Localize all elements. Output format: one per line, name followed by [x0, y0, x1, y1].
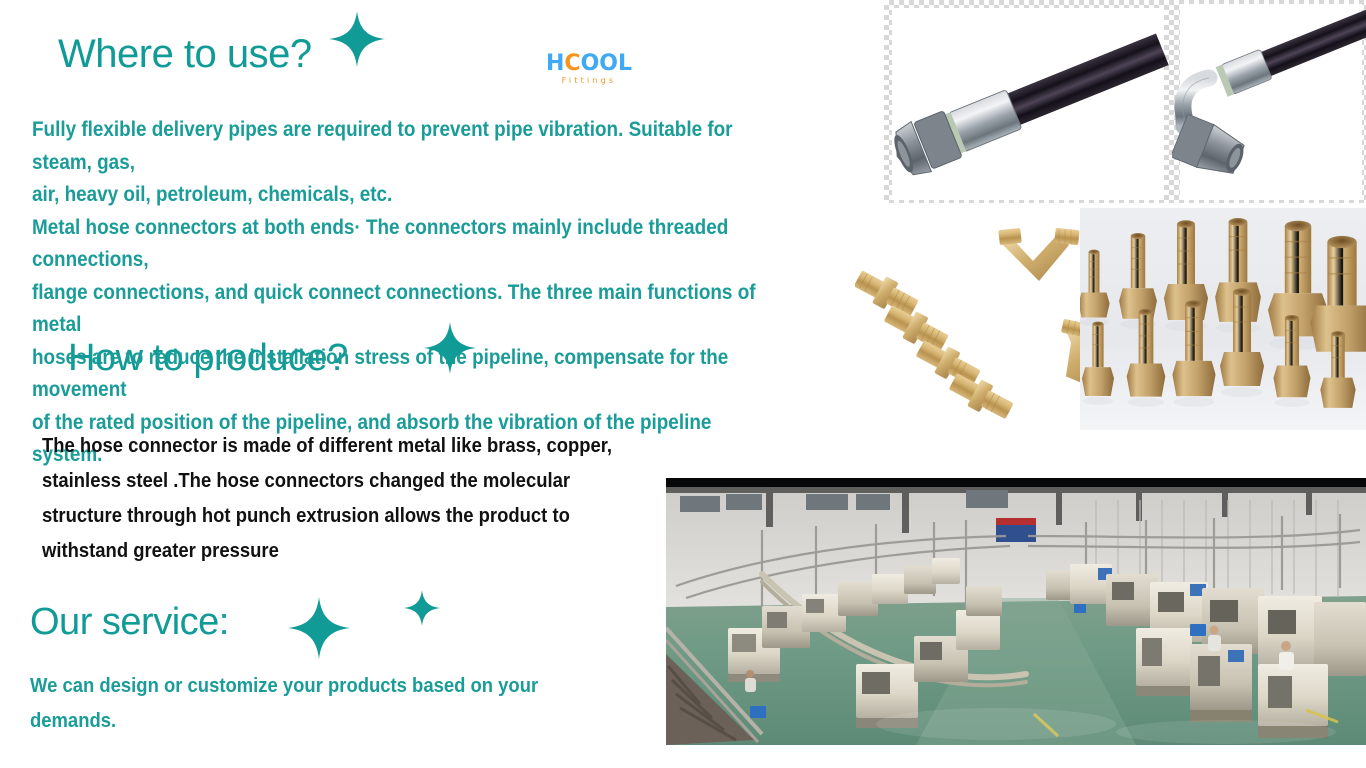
paragraph-line: hoses are to reduce the installation str…: [32, 342, 779, 407]
paragraph-line: We can design or customize your products…: [30, 668, 570, 703]
brand-logo: HCOOL Fittings: [531, 53, 647, 89]
paragraph-line: The hose connector is made of different …: [42, 428, 618, 463]
slide-canvas: Where to use? How to produce? Our servic…: [0, 0, 1366, 768]
paragraph-line: Metal hose connectors at both ends· The …: [32, 212, 779, 277]
paragraph-line: withstand greater pressure: [42, 533, 618, 568]
logo-letters-ool: OOL: [581, 51, 632, 76]
paragraph-where-to-use: Fully flexible delivery pipes are requir…: [32, 114, 779, 472]
image-hose-assemblies: [884, 0, 1366, 203]
sparkle-star-icon: [424, 322, 476, 374]
paragraph-line: Fully flexible delivery pipes are requir…: [32, 114, 779, 179]
paragraph-our-service: We can design or customize your products…: [30, 668, 570, 738]
paragraph-line: structure through hot punch extrusion al…: [42, 498, 618, 533]
sparkle-star-icon: [329, 11, 385, 67]
paragraph-line: demands.: [30, 703, 570, 738]
paragraph-line: stainless steel .The hose connectors cha…: [42, 463, 618, 498]
page-title-our-service: Our service:: [30, 601, 229, 644]
sparkle-star-icon: [288, 597, 350, 659]
logo-letter-h: H: [546, 51, 564, 76]
brand-logo-tagline: Fittings: [531, 77, 647, 85]
brand-logo-wordmark: HCOOL: [531, 53, 647, 75]
paragraph-line: air, heavy oil, petroleum, chemicals, et…: [32, 179, 779, 212]
logo-letter-c: C: [564, 51, 580, 76]
image-factory-workshop: [666, 478, 1366, 745]
paragraph-line: flange connections, and quick connect co…: [32, 277, 779, 342]
page-title-where-to-use: Where to use?: [58, 32, 312, 77]
sparkle-star-icon: [404, 590, 440, 626]
paragraph-how-to-produce: The hose connector is made of different …: [42, 428, 618, 568]
image-brass-hose-barbs: [1080, 208, 1366, 430]
